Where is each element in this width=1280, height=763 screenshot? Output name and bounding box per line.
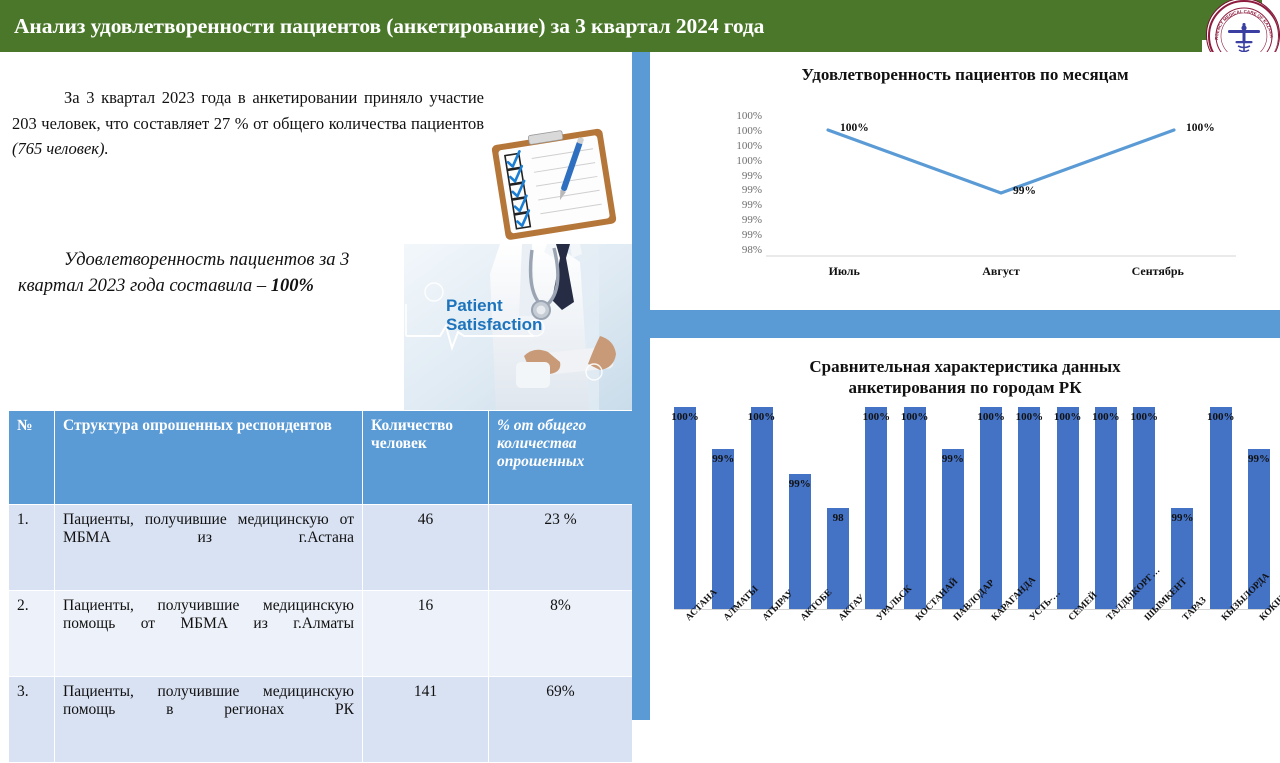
photo-caption-line1: Patient: [446, 296, 542, 315]
photo-caption: Patient Satisfaction: [446, 296, 542, 334]
bar-x-label-slot: АСТАНА: [674, 612, 696, 712]
bar: [1057, 407, 1079, 609]
bar-value-label: 100%: [901, 411, 929, 423]
bar-x-label-slot: КОКШЕТАУ: [1248, 612, 1270, 712]
line-series: [828, 130, 1174, 193]
bar-value-label: 99%: [942, 453, 964, 465]
bar-value-label: 100%: [1130, 411, 1158, 423]
cell-description: Пациенты, получившие медицинскую помощь …: [55, 591, 363, 677]
bar-column: 100%: [1057, 402, 1079, 609]
line-chart: 100%100%100%100%99%99%99%99%99%98% ИюльА…: [650, 102, 1280, 302]
bar-value-label: 100%: [977, 411, 1005, 423]
bar-column: 99%: [789, 402, 811, 609]
bar: [904, 407, 926, 609]
cell-description: Пациенты, получившие медицинскую от МБМА…: [55, 505, 363, 591]
table-row: 1. Пациенты, получившие медицинскую от М…: [9, 505, 633, 591]
bar: [751, 407, 773, 609]
monthly-satisfaction-chart-panel: Удовлетворенность пациентов по месяцам 1…: [650, 52, 1280, 302]
bar-x-label-slot: АТЫРАУ: [751, 612, 773, 712]
summary-value: 100%: [271, 276, 314, 296]
bar-x-label-slot: АКТАУ: [827, 612, 849, 712]
col-header-percent: % от общего количества опрошенных: [489, 411, 633, 505]
bar-column: 100%: [980, 402, 1002, 609]
bar-value-label: 100%: [1016, 411, 1044, 423]
line-point-label: 100%: [1186, 122, 1215, 134]
bar-value-label: 100%: [1207, 411, 1235, 423]
respondents-table: № Структура опрошенных респондентов Коли…: [8, 410, 633, 763]
bar-value-label: 99%: [789, 478, 811, 490]
bar-x-label-slot: КОСТАНАЙ: [904, 612, 926, 712]
page-title: Анализ удовлетворенности пациентов (анке…: [0, 14, 764, 39]
slide-header: Анализ удовлетворенности пациентов (анке…: [0, 0, 1202, 52]
bar-value-label: 99%: [1248, 453, 1270, 465]
cell-percent: 8%: [489, 591, 633, 677]
intro-text: За 3 квартал 2023 года в анкетировании п…: [12, 88, 484, 133]
bar-chart-title-line1: Сравнительная характеристика данных: [650, 356, 1280, 377]
col-header-number: №: [9, 411, 55, 505]
bar: [712, 449, 734, 609]
bar-column: 100%: [1210, 402, 1232, 609]
bar-x-label-slot: ПАВЛОДАР: [942, 612, 964, 712]
cell-count: 16: [363, 591, 489, 677]
cell-percent: 23 %: [489, 505, 633, 591]
bar-value-label: 100%: [1054, 411, 1082, 423]
bar-x-label-slot: УСТЬ-…: [1018, 612, 1040, 712]
bar-value-label: 99%: [712, 453, 734, 465]
patient-satisfaction-photo: Patient Satisfaction: [404, 244, 632, 411]
table-head: № Структура опрошенных респондентов Коли…: [9, 411, 633, 505]
photo-caption-line2: Satisfaction: [446, 315, 542, 334]
table-header-row: № Структура опрошенных респондентов Коли…: [9, 411, 633, 505]
bar-column: 100%: [865, 402, 887, 609]
bar: [1095, 407, 1117, 609]
line-chart-title: Удовлетворенность пациентов по месяцам: [650, 52, 1280, 85]
satisfaction-summary: Удовлетворенность пациентов за 3 квартал…: [18, 247, 400, 300]
bar-value-label: 100%: [748, 411, 776, 423]
bar: [1210, 407, 1232, 609]
bar-value-label: 100%: [671, 411, 699, 423]
bar-chart: 100%99%100%99%98100%100%99%100%100%100%1…: [650, 402, 1280, 720]
bar-x-label-slot: КЫЗЫЛОРДА: [1210, 612, 1232, 712]
bar-value-label: 100%: [1092, 411, 1120, 423]
right-blue-rail: [632, 52, 650, 720]
cell-number: 1.: [9, 505, 55, 591]
line-point-label: 99%: [1013, 185, 1036, 197]
bar-chart-title: Сравнительная характеристика данных анке…: [650, 344, 1280, 399]
bar: [865, 407, 887, 609]
cell-count: 46: [363, 505, 489, 591]
bar-x-label-slot: СЕМЕЙ: [1057, 612, 1079, 712]
bar-x-label-slot: АЛМАТЫ: [712, 612, 734, 712]
bar-x-label-slot: КАРАГАНДА: [980, 612, 1002, 712]
col-header-structure: Структура опрошенных респондентов: [55, 411, 363, 505]
bar-x-label-slot: УРАЛЬСК: [865, 612, 887, 712]
left-content-column: За 3 квартал 2023 года в анкетировании п…: [0, 52, 632, 720]
bar: [674, 407, 696, 609]
bar-x-label-slot: ШЫМКЕНТ: [1133, 612, 1155, 712]
intro-paragraph: За 3 квартал 2023 года в анкетировании п…: [12, 85, 484, 162]
bar-value-label: 99%: [1171, 512, 1193, 524]
table-body: 1. Пациенты, получившие медицинскую от М…: [9, 505, 633, 763]
bar-column: 99%: [712, 402, 734, 609]
bar: [789, 474, 811, 609]
bar-column: 100%: [904, 402, 926, 609]
cell-number: 2.: [9, 591, 55, 677]
bar-column: 100%: [751, 402, 773, 609]
intro-italic-note: (765 человек).: [12, 139, 109, 158]
bar-x-label-slot: АКТОБЕ: [789, 612, 811, 712]
bar-column: 100%: [674, 402, 696, 609]
cities-comparison-chart-panel: Сравнительная характеристика данных анке…: [650, 344, 1280, 720]
checklist-clipboard-illustration: [480, 124, 632, 244]
line-point-label: 100%: [840, 122, 869, 134]
bar-chart-title-line2: анкетирования по городам РК: [650, 377, 1280, 398]
clipboard-icon: [480, 124, 632, 244]
bar-value-label: 100%: [863, 411, 891, 423]
bar-column: 100%: [1095, 402, 1117, 609]
section-divider-bar: [650, 310, 1280, 338]
bar-x-label-slot: ТАЛДЫКОРГ…: [1095, 612, 1117, 712]
col-header-count: Количество человек: [363, 411, 489, 505]
bar-chart-x-axis-labels: АСТАНААЛМАТЫАТЫРАУАКТОБЕАКТАУУРАЛЬСККОСТ…: [674, 612, 1270, 712]
bar-column: 98: [827, 402, 849, 609]
bar-value-label: 98: [833, 512, 844, 524]
bar-x-label-slot: ТАРАЗ: [1171, 612, 1193, 712]
table-row: 2. Пациенты, получившие медицинскую помо…: [9, 591, 633, 677]
